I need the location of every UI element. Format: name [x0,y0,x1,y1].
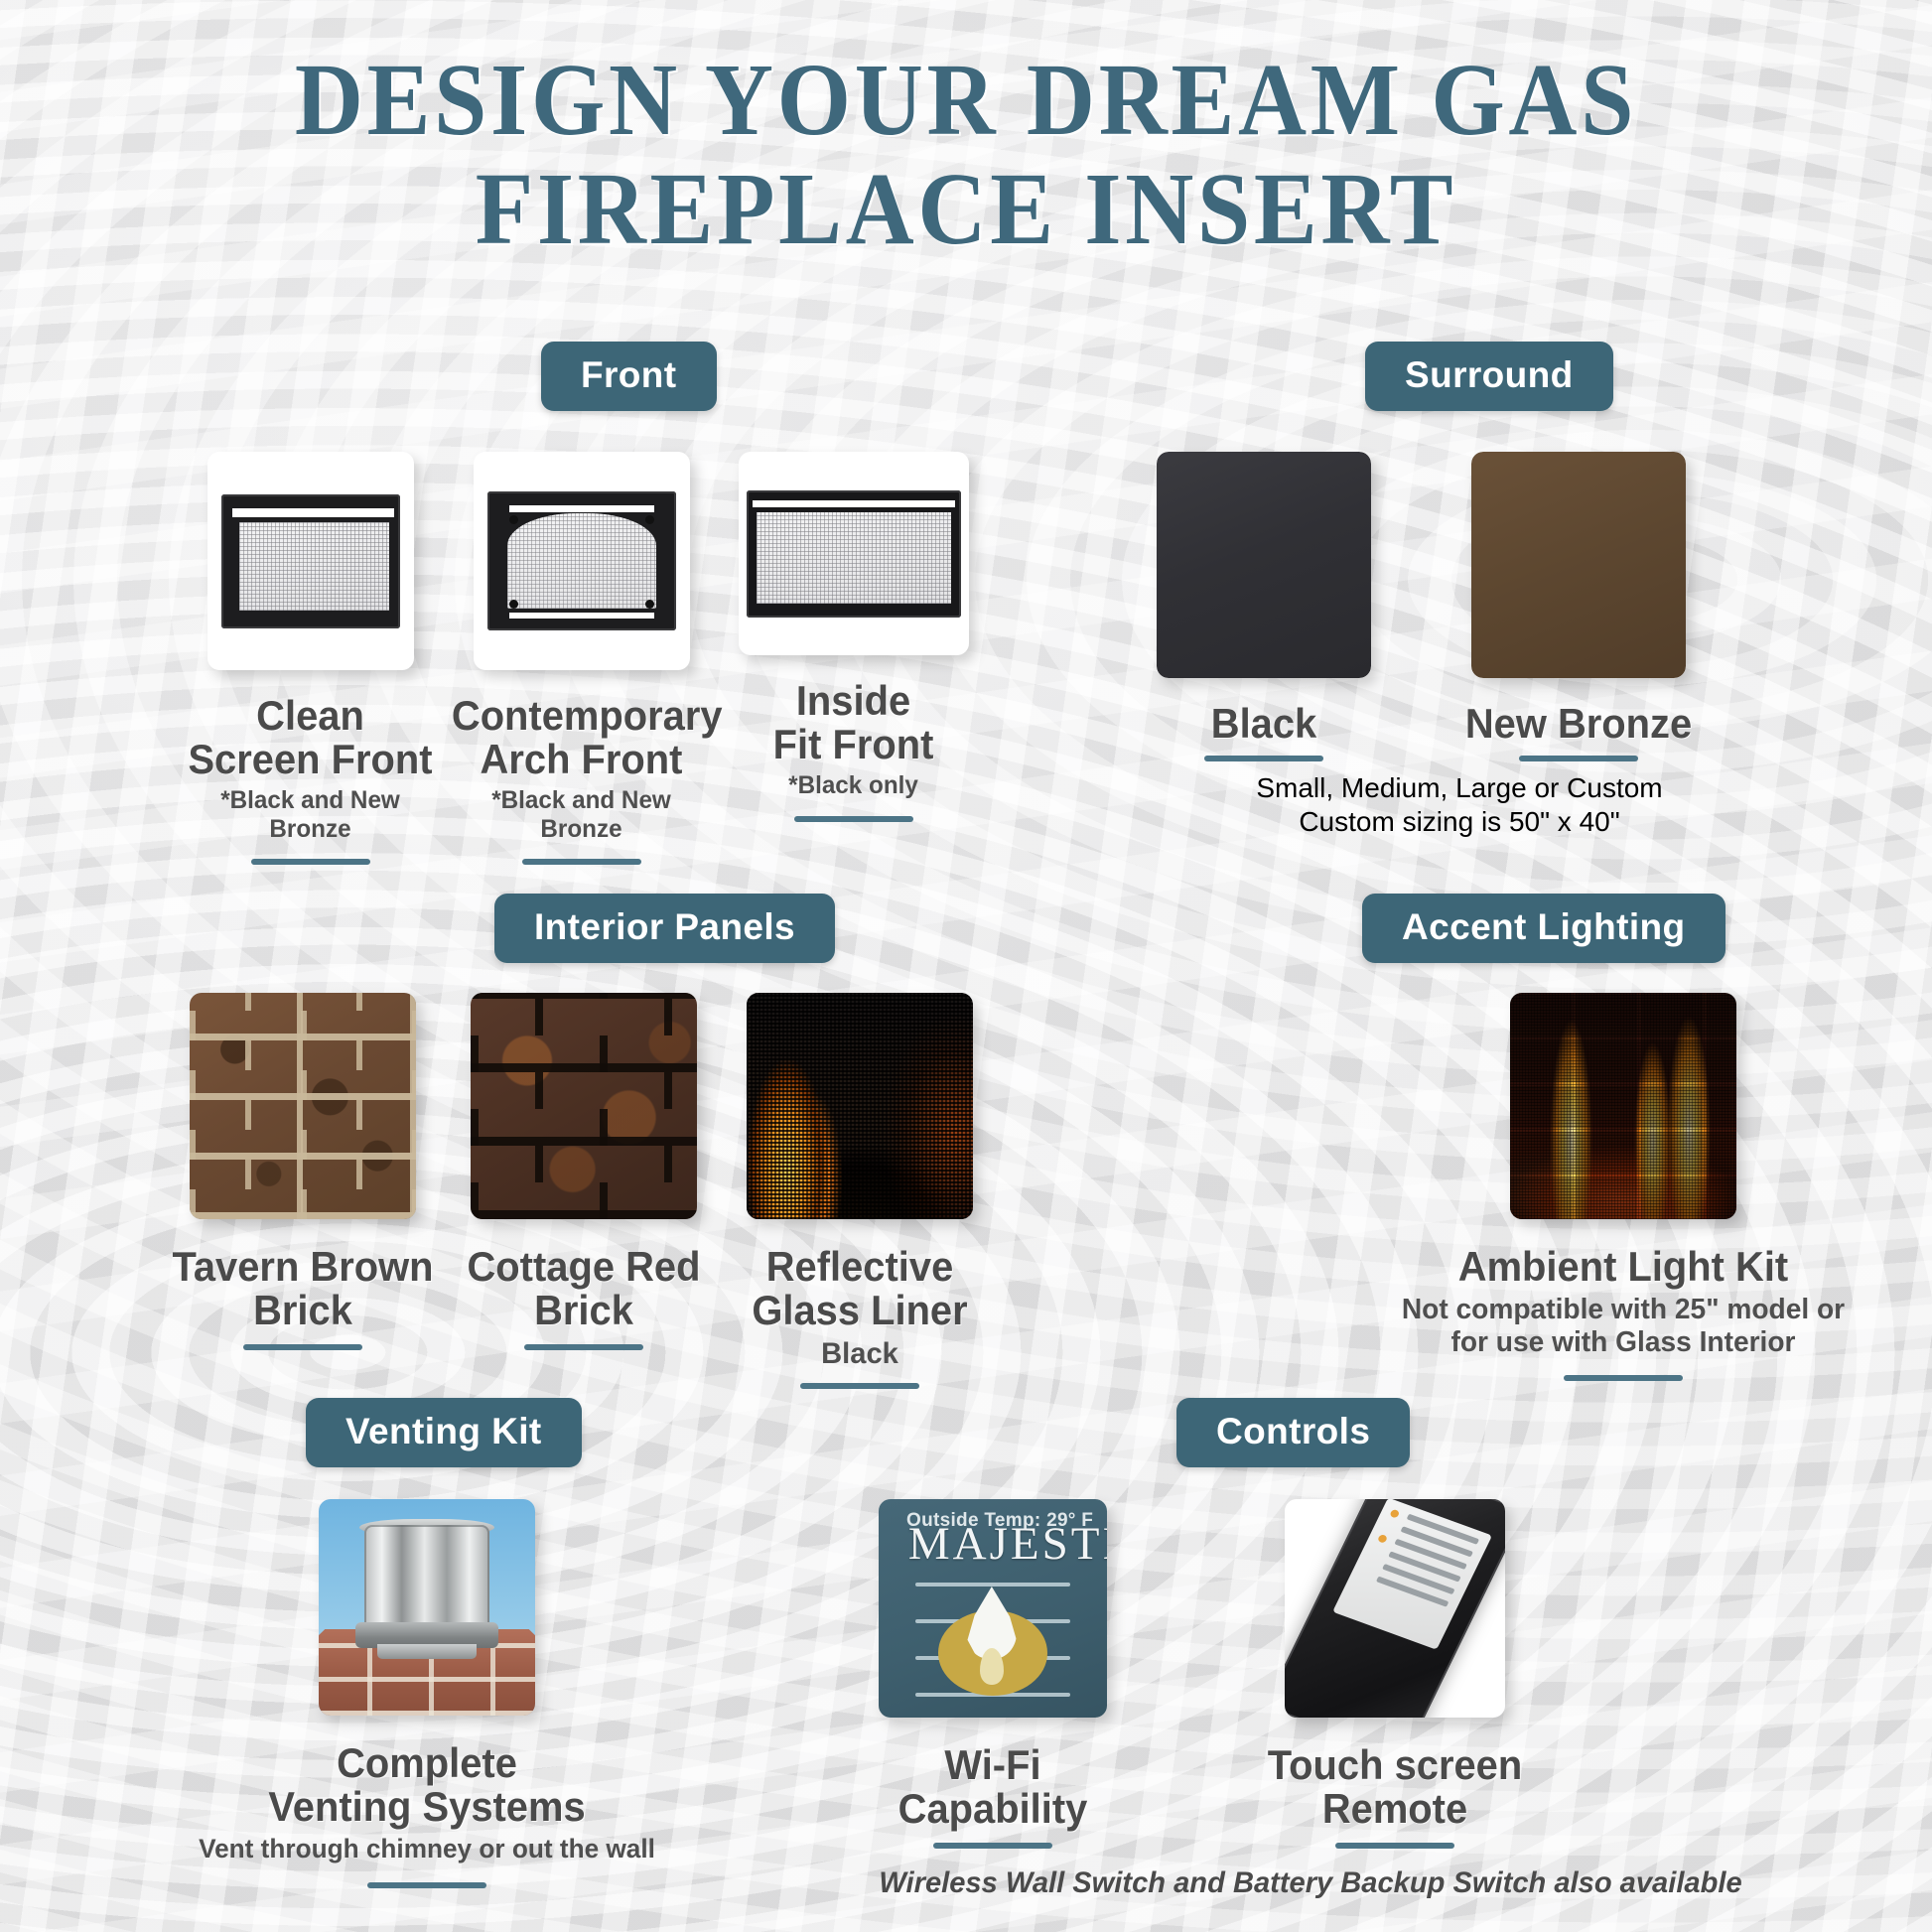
section-badge-interior-panels[interactable]: Interior Panels [494,894,835,963]
product-complete-venting-systems[interactable]: Complete Venting Systems Vent through ch… [179,1499,675,1888]
accent-rule [933,1843,1052,1849]
new-bronze-surround-swatch [1471,452,1686,678]
product-note: *Black and New Bronze [449,786,714,843]
surround-note-sizes: Small, Medium, Large or Custom [1112,772,1807,804]
surround-note-custom: Custom sizing is 50" x 40" [1112,806,1807,838]
product-new-bronze-surround[interactable]: New Bronze [1420,452,1737,761]
product-reflective-glass-liner[interactable]: Reflective Glass Liner Black [721,993,999,1389]
accent-rule [1564,1375,1683,1381]
ambient-light-kit-image [1510,993,1736,1219]
accent-rule [794,816,913,822]
accent-rule [1335,1843,1454,1849]
product-label: Inside Fit Front [724,679,983,766]
section-badge-front[interactable]: Front [541,342,717,411]
product-tavern-brown-brick[interactable]: Tavern Brown Brick [164,993,442,1350]
reflective-glass-liner-image [747,993,973,1219]
product-cottage-red-brick[interactable]: Cottage Red Brick [445,993,723,1350]
product-ambient-light-kit[interactable]: Ambient Light Kit Not compatible with 25… [1315,993,1931,1381]
tavern-brown-brick-image [190,993,416,1219]
wifi-control-panel-image: Outside Temp: 29° F MAJESTIC [879,1499,1107,1718]
infographic-page: DESIGN YOUR DREAM GAS FIREPLACE INSERT F… [0,0,1932,1932]
product-note: *Black and New Bronze [178,786,443,843]
section-badge-accent-lighting[interactable]: Accent Lighting [1362,894,1725,963]
product-inside-fit-front[interactable]: Inside Fit Front *Black only [717,452,990,822]
black-surround-swatch [1157,452,1371,678]
product-label: Black [1127,702,1401,746]
clean-screen-front-image [207,452,414,670]
product-label: New Bronze [1428,702,1729,746]
section-badge-surround[interactable]: Surround [1365,342,1613,411]
product-note: Not compatible with 25" model or for use… [1324,1294,1921,1359]
product-label: Clean Screen Front [181,694,440,781]
product-label: Touch screen Remote [1235,1743,1556,1831]
accent-rule [524,1344,643,1350]
chimney-venting-cap-image [319,1499,535,1716]
majestic-brand-text: MAJESTIC [908,1517,1107,1571]
inside-fit-front-image [739,452,969,655]
product-note: *Black only [721,771,986,800]
product-label: Complete Venting Systems [192,1741,663,1829]
page-title-line-1: DESIGN YOUR DREAM GAS [295,43,1637,157]
product-note: Vent through chimney or out the wall [187,1834,668,1864]
product-label: Wi-Fi Capability [842,1743,1144,1831]
page-title-line-2: FIREPLACE INSERT [77,155,1855,264]
accent-rule [243,1344,362,1350]
accent-rule [800,1383,919,1389]
product-label: Contemporary Arch Front [452,694,711,781]
product-label: Cottage Red Brick [452,1245,716,1332]
flame-icon [938,1587,1047,1696]
product-black-surround[interactable]: Black [1120,452,1408,761]
accent-rule [367,1882,486,1888]
cottage-red-brick-image [471,993,697,1219]
footer-note: Wireless Wall Switch and Battery Backup … [771,1866,1850,1900]
remote-device [1285,1499,1505,1718]
accent-rule [1519,756,1638,761]
remote-screen [1332,1499,1492,1650]
product-contemporary-arch-front[interactable]: Contemporary Arch Front *Black and New B… [445,452,718,865]
product-note: Black [725,1337,995,1371]
product-clean-screen-front[interactable]: Clean Screen Front *Black and New Bronze [174,452,447,865]
product-wifi-capability[interactable]: Outside Temp: 29° F MAJESTIC Wi-Fi Capab… [834,1499,1152,1849]
product-label: Tavern Brown Brick [171,1245,435,1332]
touch-screen-remote-image [1285,1499,1505,1718]
accent-rule [1204,756,1323,761]
product-label: Ambient Light Kit [1331,1245,1916,1289]
accent-rule [251,859,370,865]
section-badge-controls[interactable]: Controls [1176,1398,1410,1467]
product-touch-screen-remote[interactable]: Touch screen Remote [1226,1499,1564,1849]
accent-rule [522,859,641,865]
surround-notes: Small, Medium, Large or Custom Custom si… [1112,772,1807,838]
product-label: Reflective Glass Liner [728,1245,992,1332]
page-title: DESIGN YOUR DREAM GAS FIREPLACE INSERT [77,0,1855,264]
contemporary-arch-front-image [474,452,690,670]
section-badge-venting-kit[interactable]: Venting Kit [306,1398,582,1467]
